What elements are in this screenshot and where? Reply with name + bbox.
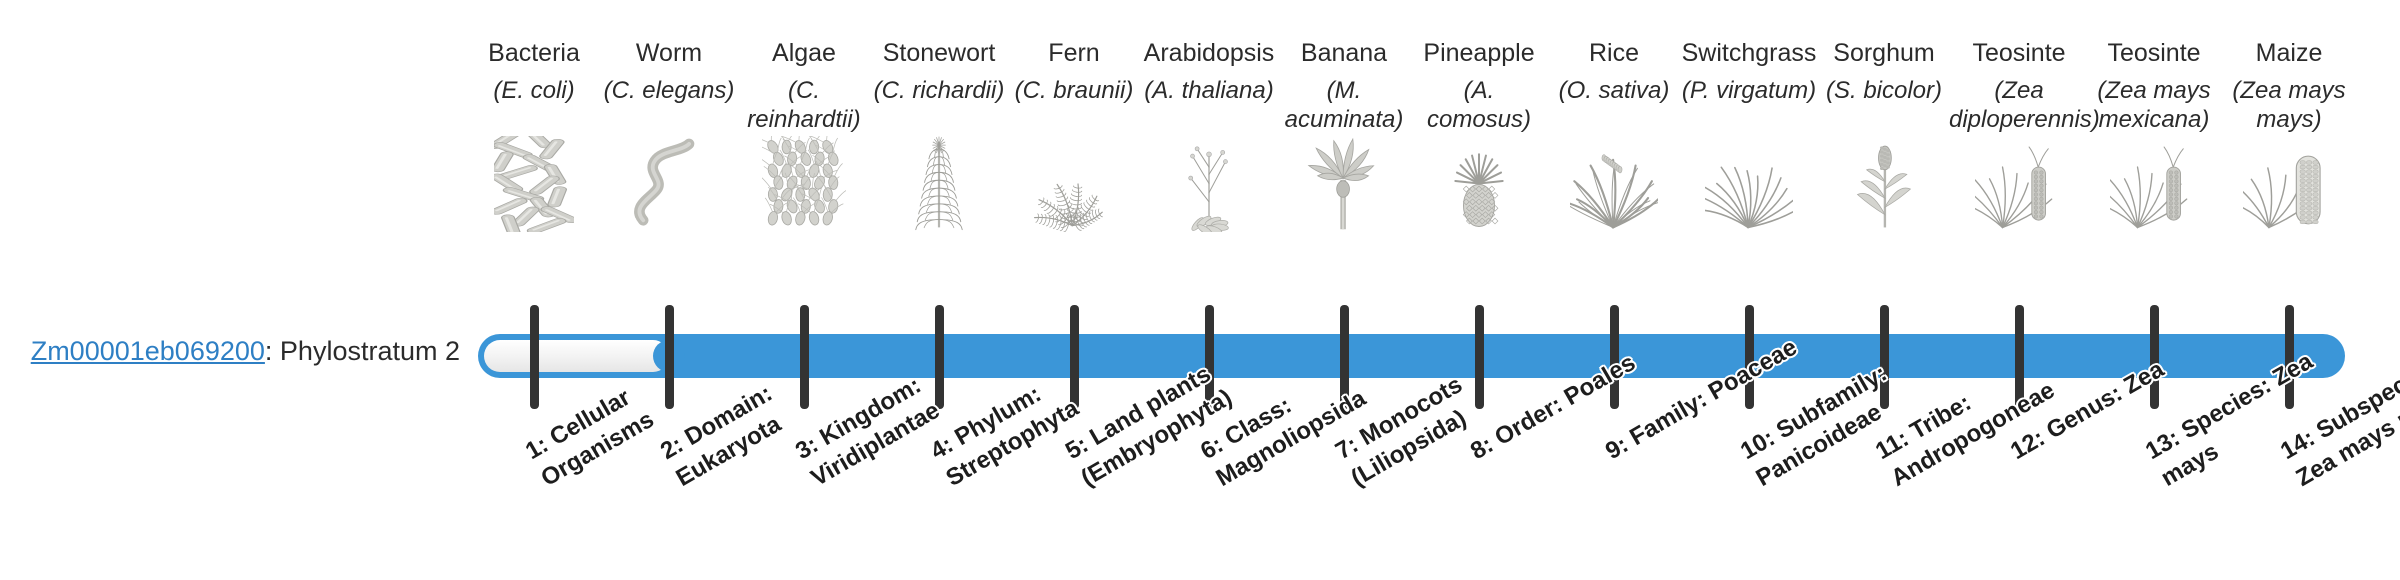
species-scientific-name: (Zea mays mexicana): [2084, 76, 2224, 134]
species-scientific-name: (C. richardii): [869, 76, 1009, 134]
algae-illustration: [734, 136, 874, 232]
species-column: Pineapple(A. comosus): [1409, 38, 1549, 232]
species-common-name: Pineapple: [1409, 38, 1549, 68]
species-common-name: Maize: [2219, 38, 2359, 68]
species-column: Teosinte(Zea diploperennis): [1949, 38, 2089, 232]
species-common-name: Fern: [1004, 38, 1144, 68]
species-scientific-name: (S. bicolor): [1814, 76, 1954, 134]
species-scientific-name: (M. acuminata): [1274, 76, 1414, 134]
species-scientific-name: (C. braunii): [1004, 76, 1144, 134]
species-column: Switchgrass(P. virgatum): [1679, 38, 1819, 232]
phylostratum-value-label: Phylostratum 2: [280, 336, 460, 366]
species-column: Rice(O. sativa): [1544, 38, 1684, 232]
species-common-name: Arabidopsis: [1139, 38, 1279, 68]
species-scientific-name: (C. elegans): [599, 76, 739, 134]
species-common-name: Sorghum: [1814, 38, 1954, 68]
species-column: Banana(M. acuminata): [1274, 38, 1414, 232]
species-scientific-name: (E. coli): [464, 76, 604, 134]
gene-id-link[interactable]: Zm00001eb069200: [31, 336, 265, 366]
species-column: Sorghum(S. bicolor): [1814, 38, 1954, 232]
species-scientific-name: (Zea diploperennis): [1949, 76, 2089, 134]
species-common-name: Stonewort: [869, 38, 1009, 68]
species-common-name: Worm: [599, 38, 739, 68]
phylostratum-number: 3:: [791, 431, 823, 465]
phylostratum-rank: Species:: [2177, 372, 2276, 445]
phylostratum-rank: Family:: [1625, 386, 1711, 451]
phylostratum-number: 4:: [926, 431, 958, 465]
phylostratum-number: 1:: [521, 431, 553, 465]
phylostratum-number: 2:: [656, 431, 688, 465]
phylostratigraphy-figure: Zm00001eb069200: Phylostratum 2 Bacteria…: [0, 0, 2400, 580]
species-scientific-name: (P. virgatum): [1679, 76, 1819, 134]
phylostratum-tick[interactable]: [530, 305, 539, 409]
species-column: Teosinte(Zea mays mexicana): [2084, 38, 2224, 232]
sorghum-illustration: [1814, 136, 1954, 232]
species-column: Bacteria(E. coli): [464, 38, 604, 232]
gene-label-separator: :: [265, 336, 280, 366]
species-common-name: Teosinte: [1949, 38, 2089, 68]
banana-illustration: [1274, 136, 1414, 232]
arabidopsis-illustration: [1139, 136, 1279, 232]
species-scientific-name: (A. comosus): [1409, 76, 1549, 134]
species-scientific-name: (A. thaliana): [1139, 76, 1279, 134]
phylostratum-number: 5:: [1061, 431, 1093, 465]
species-common-name: Rice: [1544, 38, 1684, 68]
maize-illustration: [2219, 136, 2359, 232]
species-column: Algae(C. reinhardtii): [734, 38, 874, 232]
phylostratum-number: 12:: [2006, 424, 2050, 465]
species-column: Worm(C. elegans): [599, 38, 739, 232]
species-column: Maize(Zea mays mays): [2219, 38, 2359, 232]
phylostratum-number: 6:: [1196, 431, 1228, 465]
pineapple-illustration: [1409, 136, 1549, 232]
species-common-name: Switchgrass: [1679, 38, 1819, 68]
species-column: Stonewort(C. richardii): [869, 38, 1009, 232]
species-common-name: Teosinte: [2084, 38, 2224, 68]
species-scientific-name: (C. reinhardtii): [734, 76, 874, 134]
species-scientific-name: (Zea mays mays): [2219, 76, 2359, 134]
bar-unfilled-region: [484, 340, 669, 372]
species-column: Arabidopsis(A. thaliana): [1139, 38, 1279, 232]
species-scientific-name: (O. sativa): [1544, 76, 1684, 134]
species-common-name: Algae: [734, 38, 874, 68]
fern-illustration: [1004, 136, 1144, 232]
species-common-name: Bacteria: [464, 38, 604, 68]
teosinte-mexicana-illustration: [2084, 136, 2224, 232]
teosinte-diploperennis-illustration: [1949, 136, 2089, 232]
phylostratum-number: 7:: [1331, 431, 1363, 465]
species-common-name: Banana: [1274, 38, 1414, 68]
bacteria-illustration: [464, 136, 604, 232]
species-column: Fern(C. braunii): [1004, 38, 1144, 232]
worm-illustration: [599, 136, 739, 232]
phylostratum-number: 9:: [1601, 431, 1633, 465]
phylostratum-number: 8:: [1466, 431, 1498, 465]
stonewort-illustration: [869, 136, 1009, 232]
rice-illustration: [1544, 136, 1684, 232]
gene-row-label: Zm00001eb069200: Phylostratum 2: [0, 337, 460, 367]
switchgrass-illustration: [1679, 136, 1819, 232]
